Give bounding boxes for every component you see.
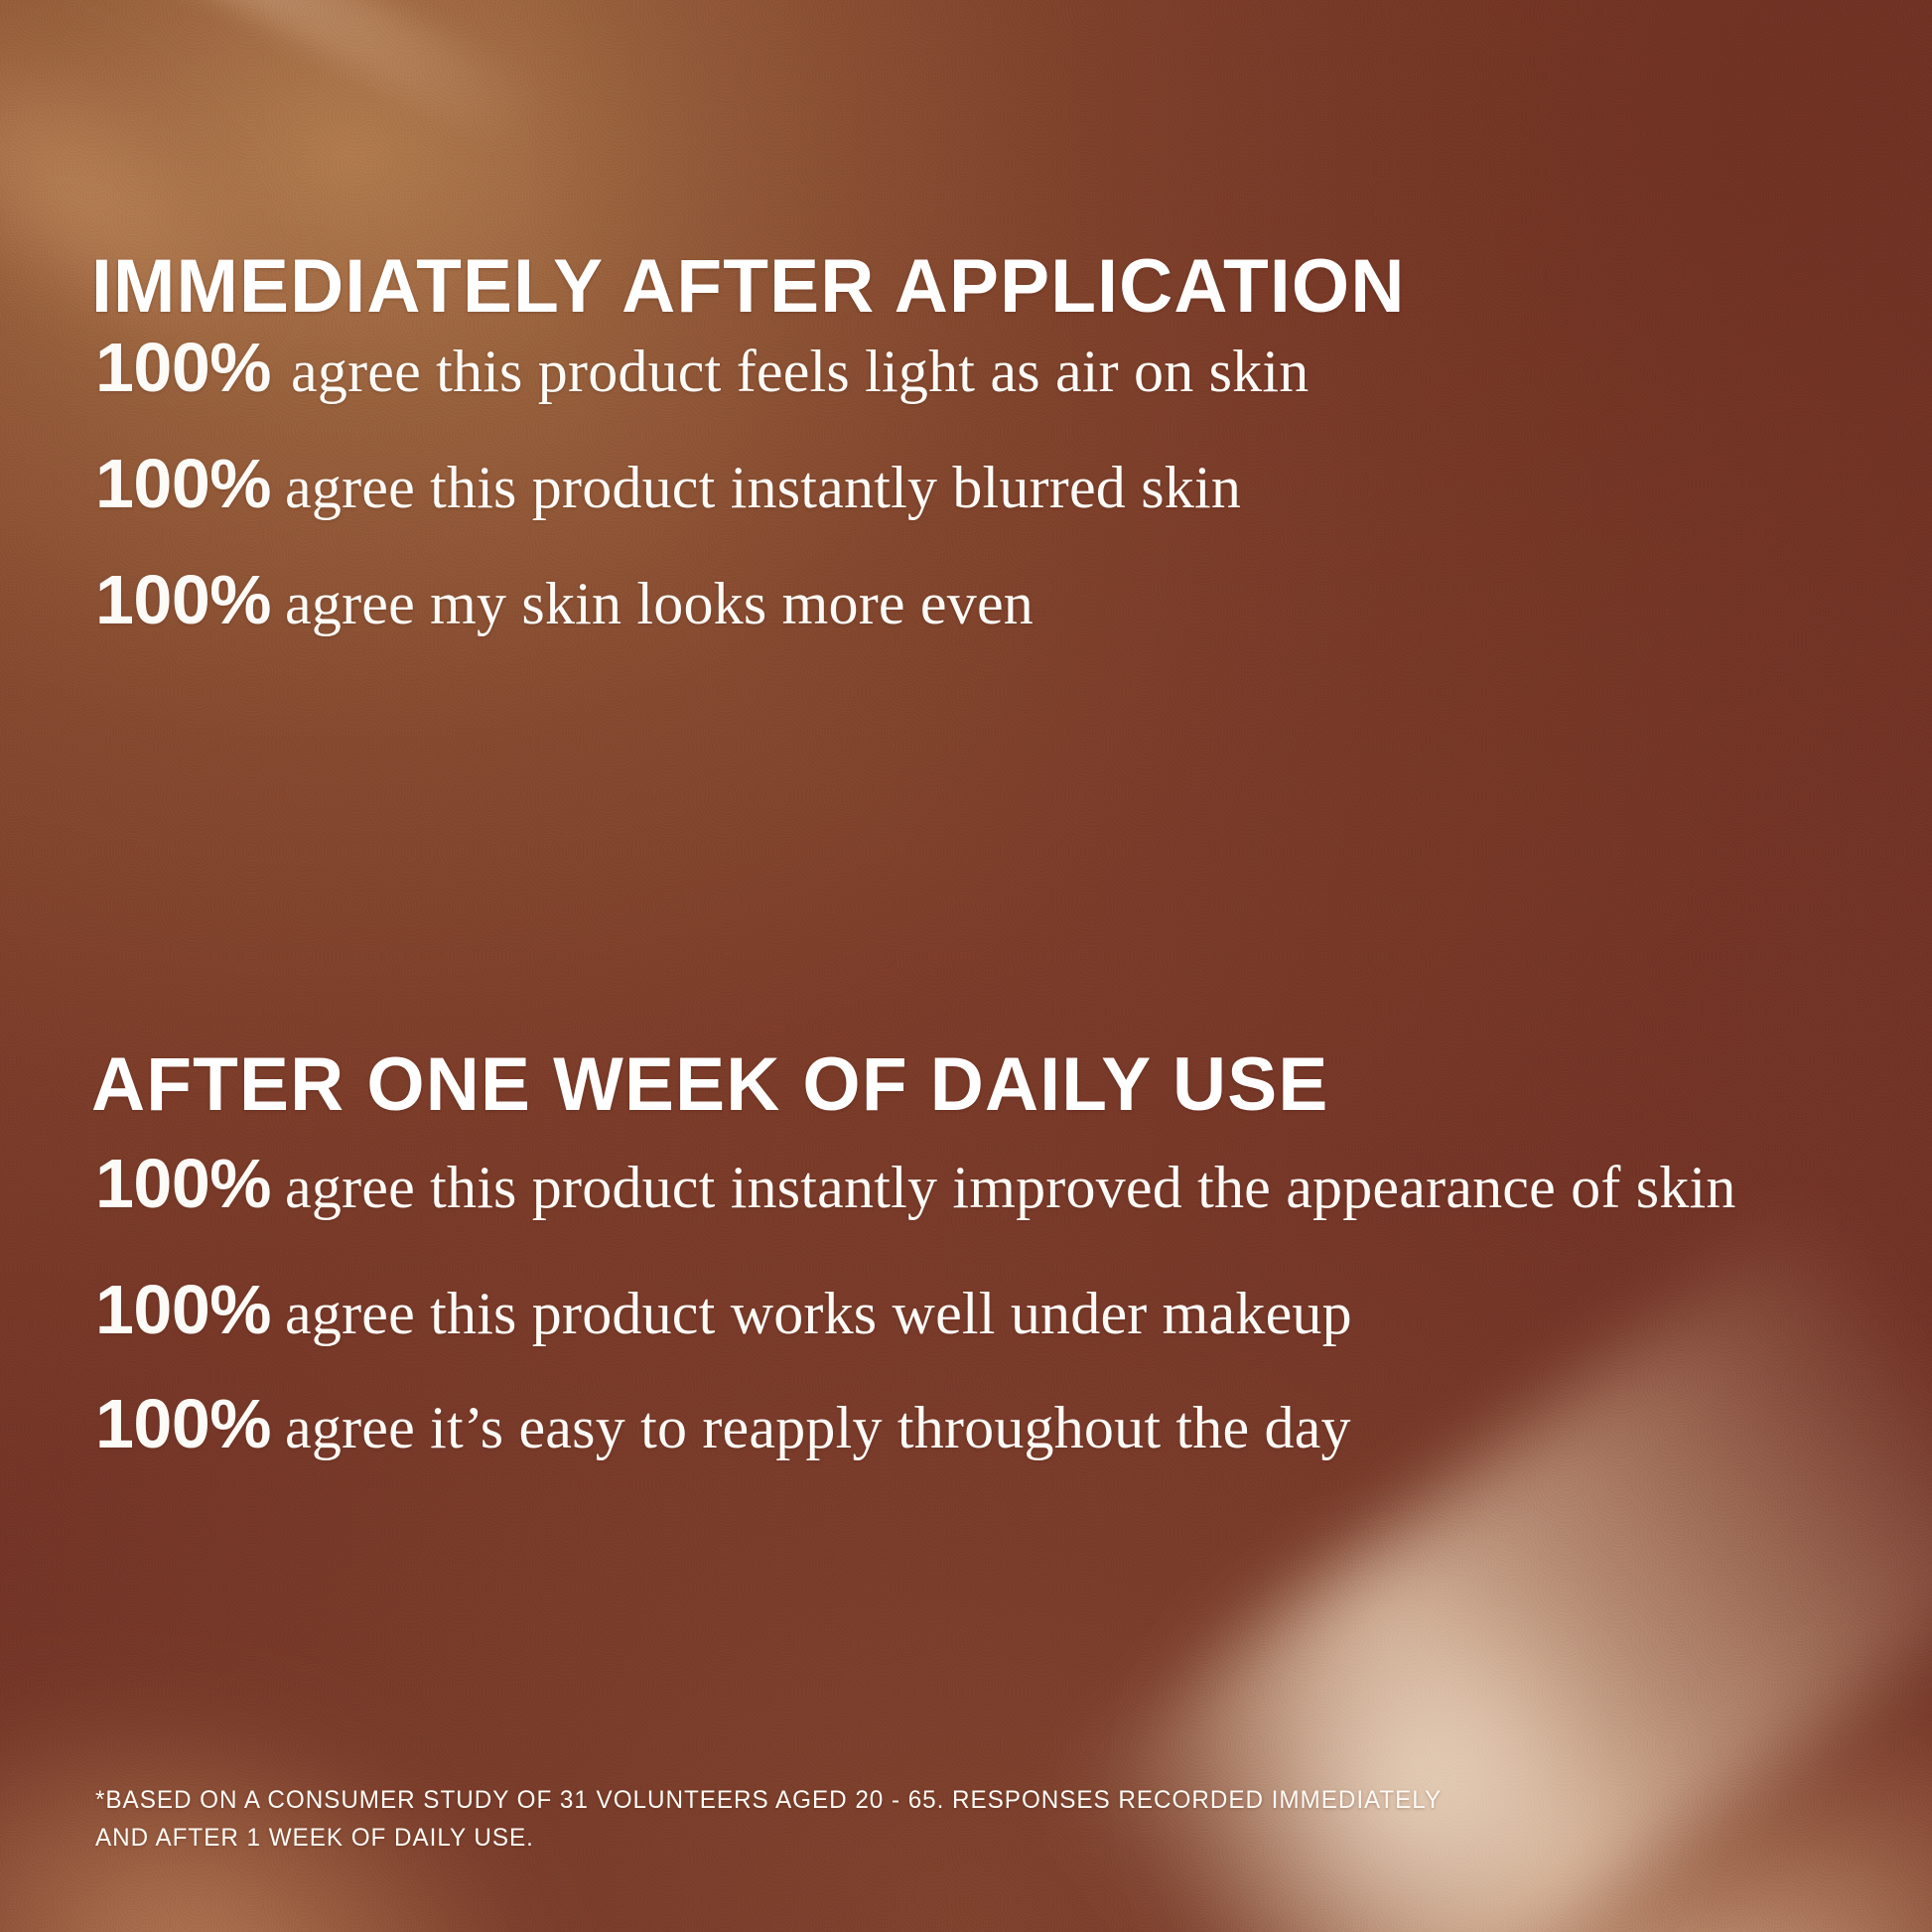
stat-percent: 100% xyxy=(95,560,271,639)
content-layer: IMMEDIATELY AFTER APPLICATION 100% agree… xyxy=(0,0,1932,1932)
footnote-line-1: *BASED ON A CONSUMER STUDY OF 31 VOLUNTE… xyxy=(95,1781,1442,1819)
stat-percent: 100% xyxy=(95,444,271,523)
stat-claim: agree this product instantly improved th… xyxy=(285,1152,1736,1224)
section-heading-after-one-week-of-daily-use: AFTER ONE WEEK OF DAILY USE xyxy=(91,1045,1328,1125)
stat-row: 100% agree this product works well under… xyxy=(95,1270,1882,1350)
stat-row: 100% agree this product instantly improv… xyxy=(95,1144,1882,1224)
claims-graphic-canvas: IMMEDIATELY AFTER APPLICATION 100% agree… xyxy=(0,0,1932,1932)
stat-claim: agree my skin looks more even xyxy=(285,568,1034,640)
stat-claim: agree this product instantly blurred ski… xyxy=(285,452,1241,524)
stat-row: 100% agree my skin looks more even xyxy=(95,560,1863,640)
stat-percent: 100% xyxy=(95,1270,271,1349)
stat-percent: 100% xyxy=(95,1144,271,1223)
footnote-line-2: AND AFTER 1 WEEK OF DAILY USE. xyxy=(95,1819,1442,1857)
stat-percent: 100% xyxy=(95,328,271,407)
stat-percent: 100% xyxy=(95,1384,271,1463)
stat-claim: agree it’s easy to reapply throughout th… xyxy=(285,1392,1351,1464)
footnote-disclaimer: *BASED ON A CONSUMER STUDY OF 31 VOLUNTE… xyxy=(95,1781,1442,1857)
stat-claim: agree this product works well under make… xyxy=(285,1278,1352,1350)
stat-row: 100% agree this product feels light as a… xyxy=(95,328,1863,408)
stat-row: 100% agree it’s easy to reapply througho… xyxy=(95,1384,1882,1464)
stat-list-one-week: 100% agree this product instantly improv… xyxy=(95,1144,1882,1499)
section-heading-immediately-after-application: IMMEDIATELY AFTER APPLICATION xyxy=(91,247,1406,327)
stat-claim: agree this product feels light as air on… xyxy=(291,336,1309,408)
stat-list-immediate: 100% agree this product feels light as a… xyxy=(95,328,1863,677)
stat-row: 100% agree this product instantly blurre… xyxy=(95,444,1863,524)
